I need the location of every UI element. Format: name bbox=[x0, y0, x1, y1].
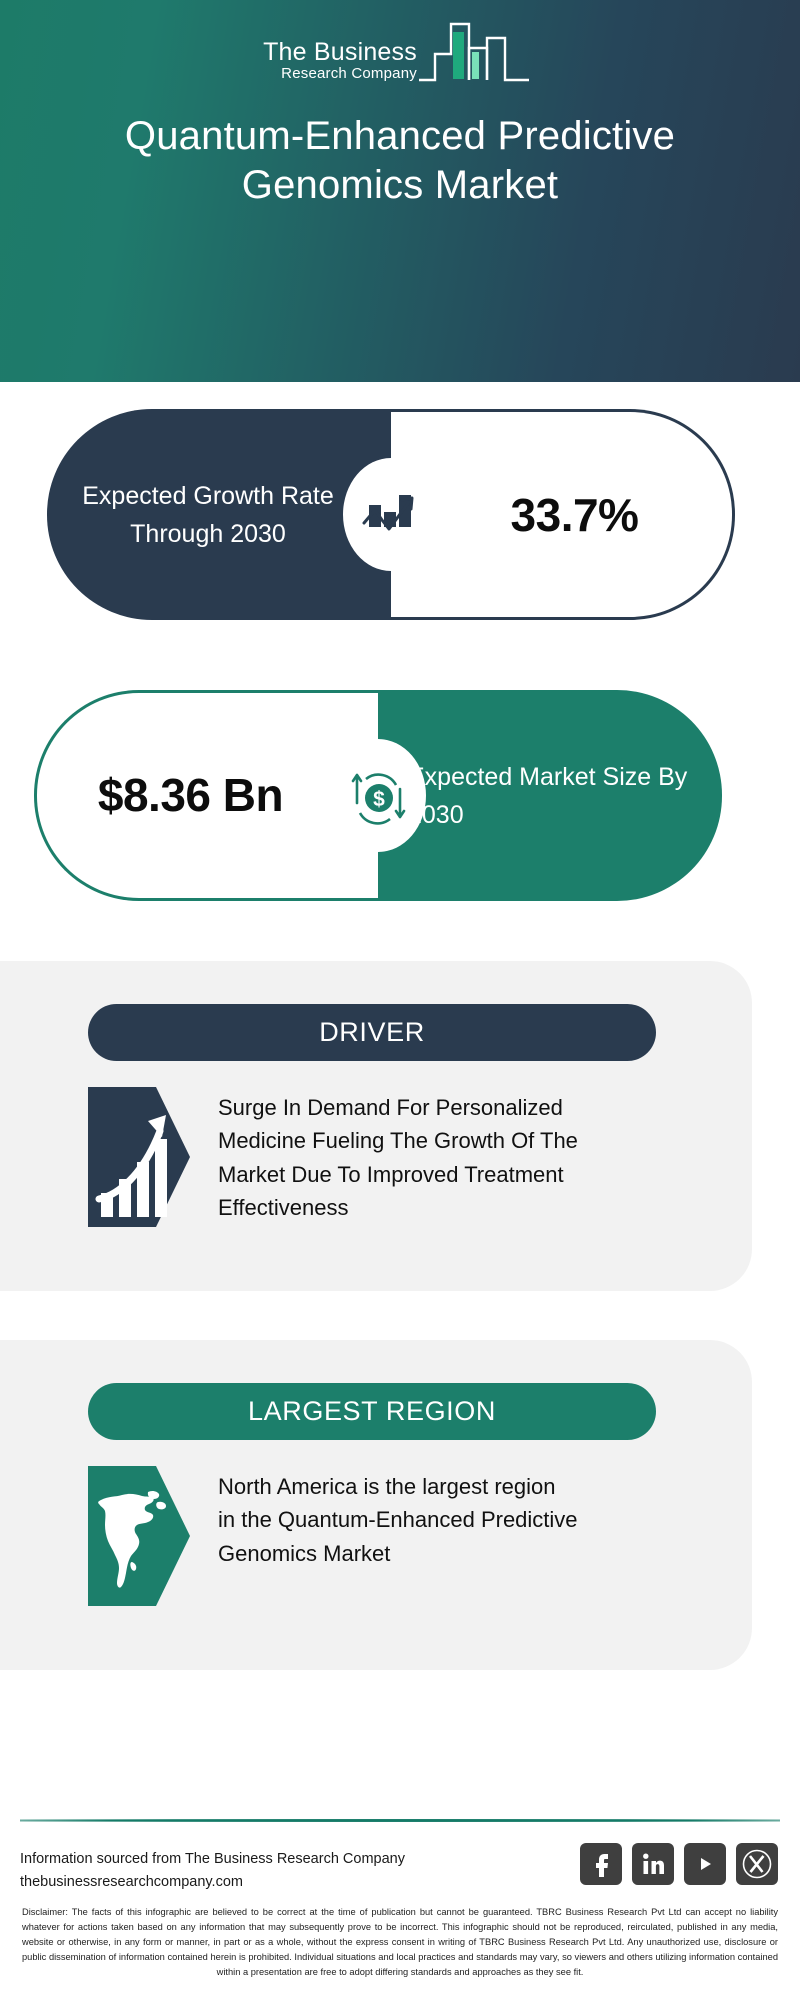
logo-secondary-text: Research Company bbox=[263, 65, 417, 84]
footer-source: Information sourced from The Business Re… bbox=[20, 1848, 405, 1895]
stat-label-market-size: Expected Market Size By 2030 bbox=[378, 758, 722, 834]
largest-region-heading-pill: LARGEST REGION bbox=[88, 1383, 656, 1440]
dollar-cycle-icon-badge: $ bbox=[330, 739, 426, 852]
logo-bar-chart-icon bbox=[417, 18, 537, 88]
social-links bbox=[580, 1843, 778, 1885]
growth-chart-icon-badge bbox=[343, 458, 439, 571]
stat-card-label-panel: Expected Growth Rate Through 2030 bbox=[47, 409, 391, 620]
stat-card-value-panel: $8.36 Bn bbox=[34, 690, 378, 901]
footer-divider bbox=[20, 1819, 780, 1822]
north-america-map-icon bbox=[88, 1466, 190, 1606]
x-twitter-icon[interactable] bbox=[736, 1843, 778, 1885]
footer-disclaimer: Disclaimer: The facts of this infographi… bbox=[22, 1905, 778, 1980]
logo-text-block: The Business Research Company bbox=[263, 39, 417, 88]
dollar-cycle-icon: $ bbox=[348, 767, 408, 825]
driver-panel: DRIVER Surge In Demand For Personalized … bbox=[0, 961, 752, 1291]
header-banner: The Business Research Company Quantum-En… bbox=[0, 0, 800, 382]
footer-source-line1: Information sourced from The Business Re… bbox=[20, 1848, 405, 1871]
company-logo: The Business Research Company bbox=[0, 18, 800, 88]
growth-chart-icon bbox=[362, 490, 420, 540]
driver-body: Surge In Demand For Personalized Medicin… bbox=[88, 1087, 724, 1227]
stat-card-value-panel: 33.7% bbox=[391, 409, 735, 620]
facebook-icon[interactable] bbox=[580, 1843, 622, 1885]
driver-text: Surge In Demand For Personalized Medicin… bbox=[218, 1087, 578, 1225]
largest-region-panel: LARGEST REGION North America is the larg… bbox=[0, 1340, 752, 1670]
bar-growth-arrow-icon bbox=[88, 1087, 190, 1227]
stat-card-growth-rate: Expected Growth Rate Through 2030 33.7% bbox=[47, 409, 735, 620]
stat-value-market-size: $8.36 Bn bbox=[98, 767, 317, 823]
largest-region-body: North America is the largest region in t… bbox=[88, 1466, 724, 1606]
largest-region-text: North America is the largest region in t… bbox=[218, 1466, 578, 1570]
stat-label-growth-rate: Expected Growth Rate Through 2030 bbox=[47, 477, 391, 553]
stat-card-label-panel: Expected Market Size By 2030 bbox=[378, 690, 722, 901]
logo-primary-text: The Business bbox=[263, 39, 417, 65]
svg-text:$: $ bbox=[373, 788, 385, 811]
linkedin-icon[interactable] bbox=[632, 1843, 674, 1885]
stat-value-growth-rate: 33.7% bbox=[485, 488, 639, 542]
stat-card-market-size: $8.36 Bn Expected Market Size By 2030 $ bbox=[34, 690, 722, 901]
footer-source-line2: thebusinessresearchcompany.com bbox=[20, 1871, 405, 1894]
driver-heading-pill: DRIVER bbox=[88, 1004, 656, 1061]
page-title: Quantum-Enhanced Predictive Genomics Mar… bbox=[40, 112, 760, 210]
youtube-icon[interactable] bbox=[684, 1843, 726, 1885]
